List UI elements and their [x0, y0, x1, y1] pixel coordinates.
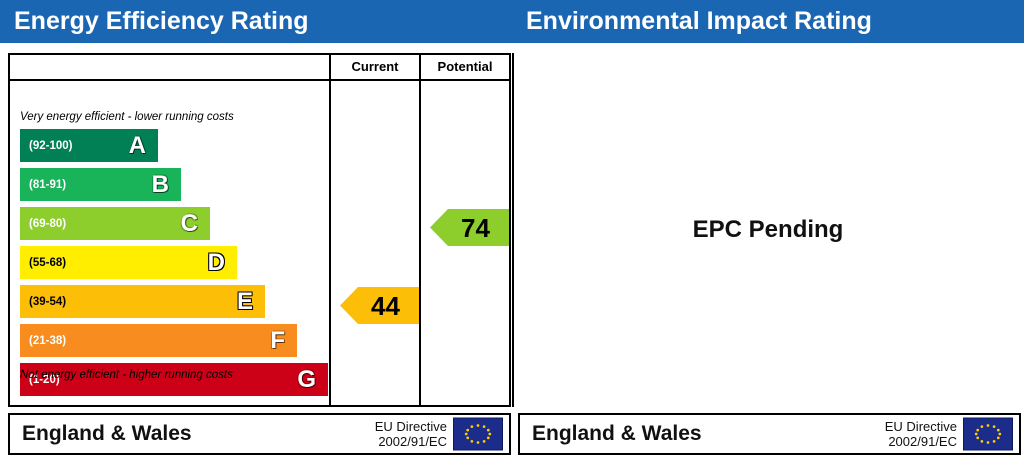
eu-flag-icon — [453, 418, 503, 451]
energy-efficiency-title: Energy Efficiency Rating — [14, 7, 309, 36]
column-header-potential: Potential — [419, 55, 509, 81]
potential-rating-value: 74 — [449, 215, 490, 241]
footer-right-directive-line2: 2002/91/EC — [885, 434, 957, 449]
column-divider-potential — [419, 81, 421, 405]
band-a-range: (92-100) — [29, 140, 72, 152]
caption-not-efficient: Not energy efficient - higher running co… — [20, 369, 233, 381]
environmental-impact-titlebar: Environmental Impact Rating — [512, 0, 1024, 43]
band-e-range: (39-54) — [29, 296, 66, 308]
current-rating-value: 44 — [359, 293, 400, 319]
band-b-range: (81-91) — [29, 179, 66, 191]
environmental-impact-body: EPC Pending — [512, 53, 1024, 407]
potential-rating-arrow: 74 — [430, 209, 509, 246]
rating-bands: Very energy efficient - lower running co… — [10, 81, 329, 405]
footer-right-directive-line1: EU Directive — [885, 419, 957, 434]
current-rating-arrow: 44 — [340, 287, 419, 324]
band-a-letter: A — [129, 134, 146, 158]
caption-very-efficient: Very energy efficient - lower running co… — [20, 111, 234, 123]
epc-pending-message: EPC Pending — [512, 53, 1024, 407]
footer-left-directive: EU Directive 2002/91/EC — [375, 419, 447, 449]
environmental-impact-title: Environmental Impact Rating — [526, 7, 872, 36]
column-header-blank — [10, 55, 329, 81]
footer-right-directive: EU Directive 2002/91/EC — [885, 419, 957, 449]
band-d-letter: D — [208, 251, 225, 275]
footer-left: England & Wales EU Directive 2002/91/EC — [8, 413, 511, 455]
band-f-range: (21-38) — [29, 335, 66, 347]
epc-chart-page: Energy Efficiency Rating Current Potenti… — [0, 0, 1024, 457]
band-e-letter: E — [237, 290, 253, 314]
band-b-letter: B — [152, 173, 169, 197]
eu-flag-icon — [963, 418, 1013, 451]
band-c-letter: C — [181, 212, 198, 236]
energy-efficiency-chart: Current Potential Very energy efficient … — [8, 53, 511, 407]
band-d: (55-68) D — [20, 246, 237, 279]
band-d-range: (55-68) — [29, 257, 66, 269]
band-e: (39-54) E — [20, 285, 265, 318]
band-f: (21-38) F — [20, 324, 297, 357]
band-f-letter: F — [270, 329, 285, 353]
footer-right-region: England & Wales — [532, 422, 702, 446]
column-divider-current — [329, 81, 331, 405]
footer-left-directive-line2: 2002/91/EC — [375, 434, 447, 449]
footer-left-directive-line1: EU Directive — [375, 419, 447, 434]
band-a: (92-100) A — [20, 129, 158, 162]
energy-efficiency-panel: Energy Efficiency Rating Current Potenti… — [0, 0, 512, 457]
band-b: (81-91) B — [20, 168, 181, 201]
footer-left-region: England & Wales — [22, 422, 192, 446]
band-g-letter: G — [297, 368, 316, 392]
energy-efficiency-titlebar: Energy Efficiency Rating — [0, 0, 512, 43]
band-c: (69-80) C — [20, 207, 210, 240]
footer-right: England & Wales EU Directive 2002/91/EC — [518, 413, 1021, 455]
band-c-range: (69-80) — [29, 218, 66, 230]
column-header-current: Current — [329, 55, 419, 81]
